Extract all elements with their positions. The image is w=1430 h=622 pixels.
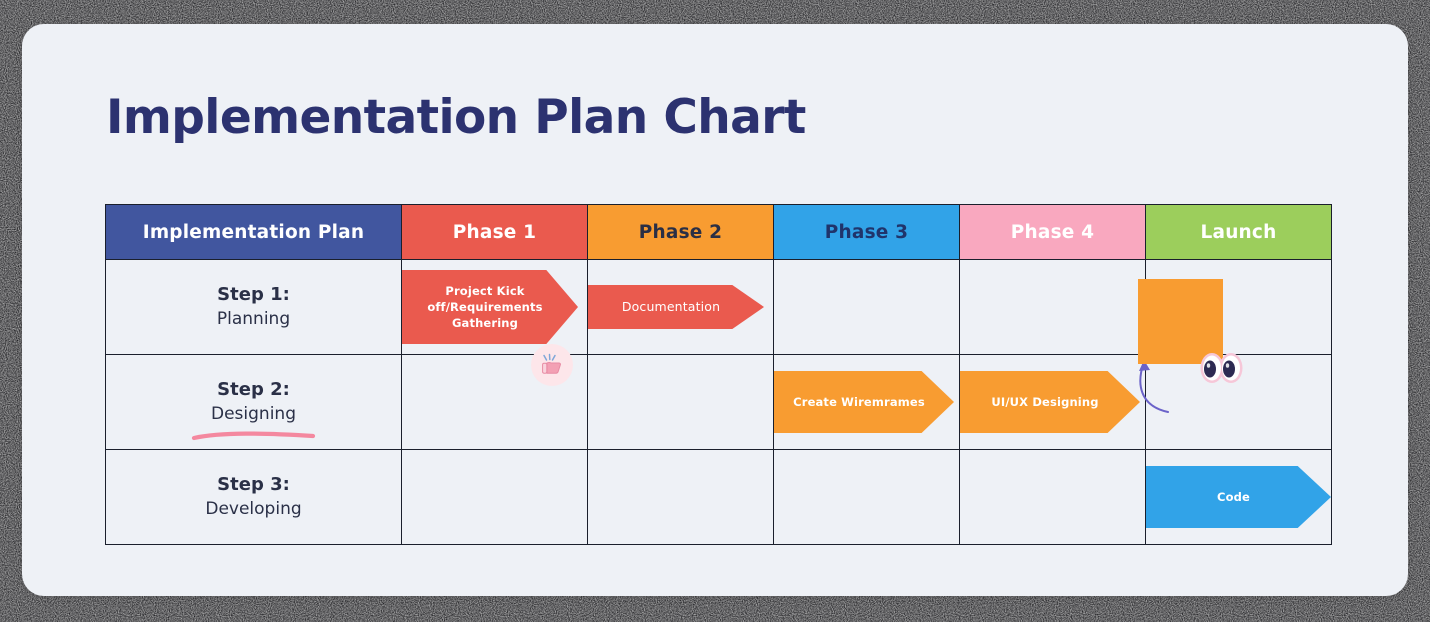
cell-phase2-step3 — [588, 450, 774, 545]
cell-phase2-step2 — [588, 355, 774, 450]
cell-phase3-step1 — [774, 260, 960, 355]
cell-phase4-step1 — [960, 260, 1146, 355]
task-label-create-wireframes: Create Wiremrames — [781, 394, 947, 410]
screenshot-stage: Implementation Plan Chart Implementation… — [0, 0, 1430, 622]
table-row: Step 3: Developing Code — [106, 450, 1332, 545]
cell-phase4-step3 — [960, 450, 1146, 545]
cell-phase2-step1: Documentation — [588, 260, 774, 355]
column-header-launch: Launch — [1146, 205, 1332, 260]
task-arrow-code[interactable]: Code — [1146, 466, 1331, 528]
step-subtitle-2: Designing — [106, 403, 401, 426]
step-subtitle-1: Planning — [106, 308, 401, 331]
cell-phase1-step3 — [402, 450, 588, 545]
chart-card: Implementation Plan Chart Implementation… — [22, 24, 1408, 596]
step-title-1: Step 1: — [106, 283, 401, 308]
column-header-implementation-plan: Implementation Plan — [106, 205, 402, 260]
column-header-phase-3: Phase 3 — [774, 205, 960, 260]
task-arrow-documentation[interactable]: Documentation — [588, 285, 764, 329]
step-cell-3: Step 3: Developing — [106, 450, 402, 545]
eyes-sticker[interactable] — [1198, 351, 1246, 385]
task-arrow-create-wireframes[interactable]: Create Wiremrames — [774, 371, 954, 433]
thumbs-up-sticker[interactable] — [531, 344, 573, 386]
cell-phase4-step2: UI/UX Designing — [960, 355, 1146, 450]
handdrawn-underline-icon — [191, 430, 317, 442]
column-header-phase-4: Phase 4 — [960, 205, 1146, 260]
task-label-project-kickoff: Project Kick off/Requirements Gathering — [402, 283, 578, 332]
column-header-phase-1: Phase 1 — [402, 205, 588, 260]
table-header-row: Implementation Plan Phase 1 Phase 2 Phas… — [106, 205, 1332, 260]
thumbs-up-icon — [538, 351, 566, 379]
step-subtitle-3: Developing — [106, 498, 401, 521]
task-arrow-project-kickoff[interactable]: Project Kick off/Requirements Gathering — [402, 270, 578, 344]
task-label-code: Code — [1205, 489, 1272, 505]
cell-launch-step3: Code — [1146, 450, 1332, 545]
task-label-documentation: Documentation — [610, 298, 742, 316]
page-title: Implementation Plan Chart — [106, 90, 806, 145]
task-label-uiux-designing: UI/UX Designing — [979, 394, 1120, 410]
cell-phase3-step3 — [774, 450, 960, 545]
step-title-2: Step 2: — [106, 378, 401, 403]
step-cell-1: Step 1: Planning — [106, 260, 402, 355]
column-header-phase-2: Phase 2 — [588, 205, 774, 260]
task-arrow-uiux-designing[interactable]: UI/UX Designing — [960, 371, 1140, 433]
step-title-3: Step 3: — [106, 473, 401, 498]
cell-phase1-step1: Project Kick off/Requirements Gathering — [402, 260, 588, 355]
cell-phase3-step2: Create Wiremrames — [774, 355, 960, 450]
step-cell-2: Step 2: Designing — [106, 355, 402, 450]
